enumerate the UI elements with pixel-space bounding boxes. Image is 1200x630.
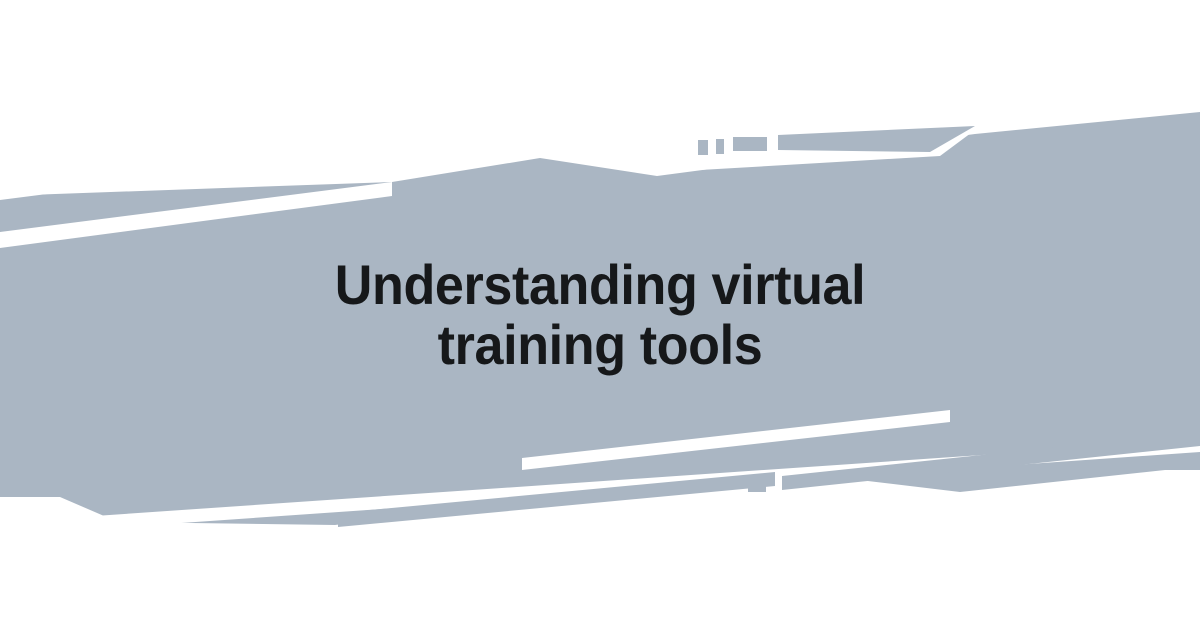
page-title: Understanding virtual training tools <box>247 255 954 376</box>
title-layer: Understanding virtual training tools <box>0 0 1200 630</box>
banner-canvas: Understanding virtual training tools <box>0 0 1200 630</box>
